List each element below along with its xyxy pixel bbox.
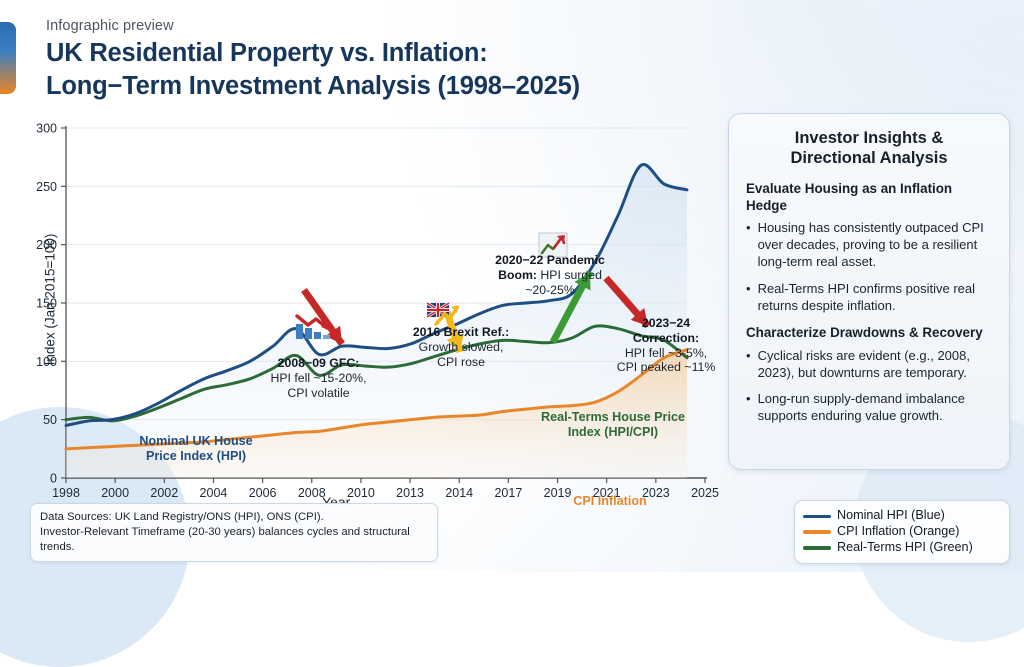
series-label-real-hpi-line2: Index (HPI/CPI) <box>528 425 698 440</box>
legend-item-real-hpi: Real-Terms HPI (Green) <box>803 540 999 556</box>
series-label-real-hpi-line1: Real-Terms House Price <box>528 410 698 425</box>
annotation-pandemic-head2: Boom: <box>498 268 537 282</box>
svg-text:0: 0 <box>50 472 57 486</box>
svg-text:2014: 2014 <box>445 486 473 500</box>
svg-text:300: 300 <box>36 122 57 136</box>
bullet-text: Housing has consistently outpaced CPI ov… <box>758 220 992 271</box>
annotation-gfc-body1: HPI fell ~15-20%, <box>256 371 381 386</box>
svg-text:250: 250 <box>36 180 57 194</box>
bullet-dot-icon: • <box>746 220 751 271</box>
bullet-text: Long-run supply-demand imbalance support… <box>758 391 992 425</box>
kicker-text: Infographic preview <box>46 18 580 34</box>
panel-section-heading: Evaluate Housing as an Inflation Hedge <box>746 181 992 215</box>
svg-text:2025: 2025 <box>691 486 719 500</box>
panel-section-heading: Characterize Drawdowns & Recovery <box>746 325 992 342</box>
panel-title-line2: Directional Analysis <box>746 148 992 168</box>
svg-text:2000: 2000 <box>101 486 129 500</box>
bullet-text: Cyclical risks are evident (e.g., 2008, … <box>758 348 992 382</box>
list-item: • Real-Terms HPI confirms positive real … <box>746 281 992 315</box>
declining-bar-chart-icon <box>294 308 334 347</box>
investor-insights-panel: Investor Insights & Directional Analysis… <box>728 113 1010 470</box>
legend-item-nominal-hpi: Nominal HPI (Blue) <box>803 508 999 524</box>
annotation-gfc-body2: CPI volatile <box>256 386 381 401</box>
legend-label: CPI Inflation (Orange) <box>837 524 960 540</box>
annotation-correction: 2023−24 Correction: HPI fell ~3-5%, CPI … <box>606 316 726 375</box>
annotation-pandemic-body2: ~20-25% <box>480 283 620 298</box>
page-title-line1: UK Residential Property vs. Inflation: <box>46 37 580 70</box>
legend-label: Real-Terms HPI (Green) <box>837 540 973 556</box>
series-label-real-hpi: Real-Terms House Price Index (HPI/CPI) <box>528 410 698 440</box>
annotation-brexit-head: 2016 Brexit Ref.: <box>400 325 522 340</box>
accent-bar-decoration <box>0 22 16 94</box>
footnote-data-sources: Data Sources: UK Land Registry/ONS (HPI)… <box>30 503 438 562</box>
bullet-dot-icon: • <box>746 348 751 382</box>
annotation-correction-body2: CPI peaked ~11% <box>606 360 726 375</box>
annotation-gfc: 2008−09 GFC: HPI fell ~15-20%, CPI volat… <box>256 356 381 400</box>
legend-swatch-green <box>803 546 831 550</box>
annotation-pandemic: 2020−22 Pandemic Boom: HPI surged ~20-25… <box>480 253 620 297</box>
svg-text:2004: 2004 <box>200 486 228 500</box>
list-item: • Cyclical risks are evident (e.g., 2008… <box>746 348 992 382</box>
svg-text:2002: 2002 <box>150 486 178 500</box>
annotation-pandemic-body1: HPI surged <box>540 268 602 282</box>
footnote-line2: Investor-Relevant Timeframe (20-30 years… <box>40 525 428 555</box>
svg-text:2017: 2017 <box>494 486 522 500</box>
series-label-nominal-hpi: Nominal UK House Price Index (HPI) <box>126 434 266 464</box>
bullet-dot-icon: • <box>746 391 751 425</box>
infographic-root: Infographic preview UK Residential Prope… <box>0 0 1024 572</box>
chart-container: Index (Jan 2015=100) Year 05010015020025… <box>22 112 722 522</box>
annotation-brexit-body2: CPI rose <box>400 355 522 370</box>
annotation-brexit: 2016 Brexit Ref.: Growth slowed, CPI ros… <box>400 325 522 369</box>
bullet-dot-icon: • <box>746 281 751 315</box>
panel-section-drawdowns: Characterize Drawdowns & Recovery • Cycl… <box>746 325 992 425</box>
page-title-line2: Long−Term Investment Analysis (1998–2025… <box>46 70 580 103</box>
svg-text:1998: 1998 <box>52 486 80 500</box>
annotation-pandemic-head: 2020−22 Pandemic <box>480 253 620 268</box>
annotation-correction-head2: Correction: <box>606 331 726 346</box>
panel-section-hedge: Evaluate Housing as an Inflation Hedge •… <box>746 181 992 315</box>
svg-text:2006: 2006 <box>249 486 277 500</box>
header: Infographic preview UK Residential Prope… <box>46 18 580 102</box>
annotation-correction-body1: HPI fell ~3-5%, <box>606 346 726 361</box>
annotation-pandemic-line2: Boom: HPI surged <box>480 268 620 283</box>
legend-swatch-orange <box>803 530 831 534</box>
svg-text:50: 50 <box>43 413 57 427</box>
legend-label: Nominal HPI (Blue) <box>837 508 945 524</box>
svg-text:2010: 2010 <box>347 486 375 500</box>
panel-title-line1: Investor Insights & <box>746 128 992 148</box>
footnote-line1: Data Sources: UK Land Registry/ONS (HPI)… <box>40 510 428 525</box>
series-label-nominal-hpi-line1: Nominal UK House <box>126 434 266 449</box>
legend-swatch-blue <box>803 515 831 519</box>
series-label-cpi: CPI Inflation <box>550 494 670 509</box>
bullet-text: Real-Terms HPI confirms positive real re… <box>758 281 992 315</box>
y-axis-title: Index (Jan 2015=100) <box>42 234 57 366</box>
legend-item-cpi: CPI Inflation (Orange) <box>803 524 999 540</box>
page-title: UK Residential Property vs. Inflation: L… <box>46 37 580 102</box>
annotation-brexit-body1: Growth slowed, <box>400 340 522 355</box>
series-label-nominal-hpi-line2: Price Index (HPI) <box>126 449 266 464</box>
panel-title: Investor Insights & Directional Analysis <box>746 128 992 169</box>
list-item: • Long-run supply-demand imbalance suppo… <box>746 391 992 425</box>
list-item: • Housing has consistently outpaced CPI … <box>746 220 992 271</box>
svg-text:2013: 2013 <box>396 486 424 500</box>
chart-legend: Nominal HPI (Blue) CPI Inflation (Orange… <box>794 500 1010 564</box>
annotation-gfc-head: 2008−09 GFC: <box>256 356 381 371</box>
annotation-correction-head: 2023−24 <box>606 316 726 331</box>
